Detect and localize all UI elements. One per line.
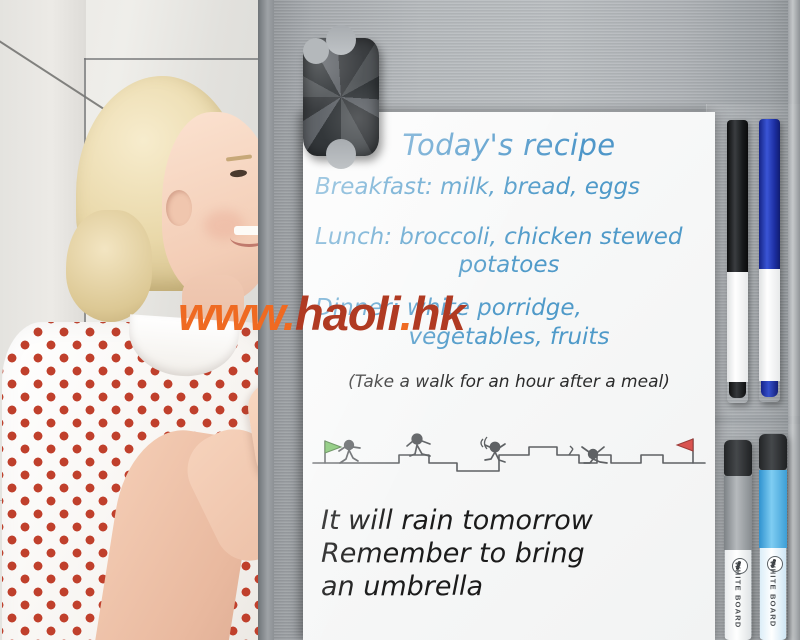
ear [166, 190, 192, 226]
eraser-bottom-notch [326, 139, 356, 169]
marker-tip [761, 381, 778, 397]
magnetic-whiteboard[interactable]: Today's recipe Breakfast: milk, bread, e… [303, 112, 715, 640]
marker-label: WHITE BOARD [760, 548, 786, 640]
board-line-lunch-cont: potatoes [303, 252, 715, 279]
board-line-lunch: Lunch: broccoli, chicken stewed [303, 224, 727, 251]
marker-cap [727, 120, 748, 272]
hair-bun [66, 210, 152, 322]
marker-label: WHITE BOARD [725, 550, 751, 640]
bottom-line-1: It will rain tomorrow [321, 504, 701, 537]
eraser-top-notch [326, 25, 356, 55]
marker-label-text: WHITE BOARD [734, 562, 743, 629]
obstacle-course-doodle [311, 417, 707, 479]
board-bottom-message: It will rain tomorrow Remember to bring … [321, 504, 701, 603]
board-line-breakfast: Breakfast: milk, bread, eggs [303, 174, 727, 201]
board-note: (Take a walk for an hour after a meal) [303, 372, 715, 392]
marker-cap [759, 119, 780, 269]
watermark-part-www: www. [178, 287, 295, 340]
marker-eraser-cap [759, 434, 787, 470]
watermark-part-hk: hk [412, 287, 465, 340]
marker-body [759, 470, 787, 548]
marker-eraser-cap [724, 440, 752, 476]
marker-tip [729, 382, 746, 398]
watermark-part-haoli: haoli [295, 287, 400, 340]
marker-barrel [759, 269, 780, 381]
bottom-line-2: Remember to bring [321, 537, 701, 570]
screenshot-root: Today's recipe Breakfast: milk, bread, e… [0, 0, 800, 640]
slim-marker-black[interactable] [727, 120, 748, 403]
marker-body [724, 476, 752, 550]
watermark: www.haoli.hk [178, 286, 648, 341]
whiteboard-marker-blue[interactable]: WHITE BOARD [759, 434, 787, 640]
magnetic-eraser[interactable] [303, 38, 379, 156]
whiteboard-marker-gray[interactable]: WHITE BOARD [724, 440, 752, 640]
marker-tray-upper [706, 104, 800, 416]
watermark-part-dot: . [400, 287, 412, 340]
marker-barrel [727, 272, 748, 382]
bottom-line-3: an umbrella [321, 570, 701, 603]
slim-marker-blue[interactable] [759, 119, 780, 402]
marker-label-text: WHITE BOARD [769, 561, 778, 628]
